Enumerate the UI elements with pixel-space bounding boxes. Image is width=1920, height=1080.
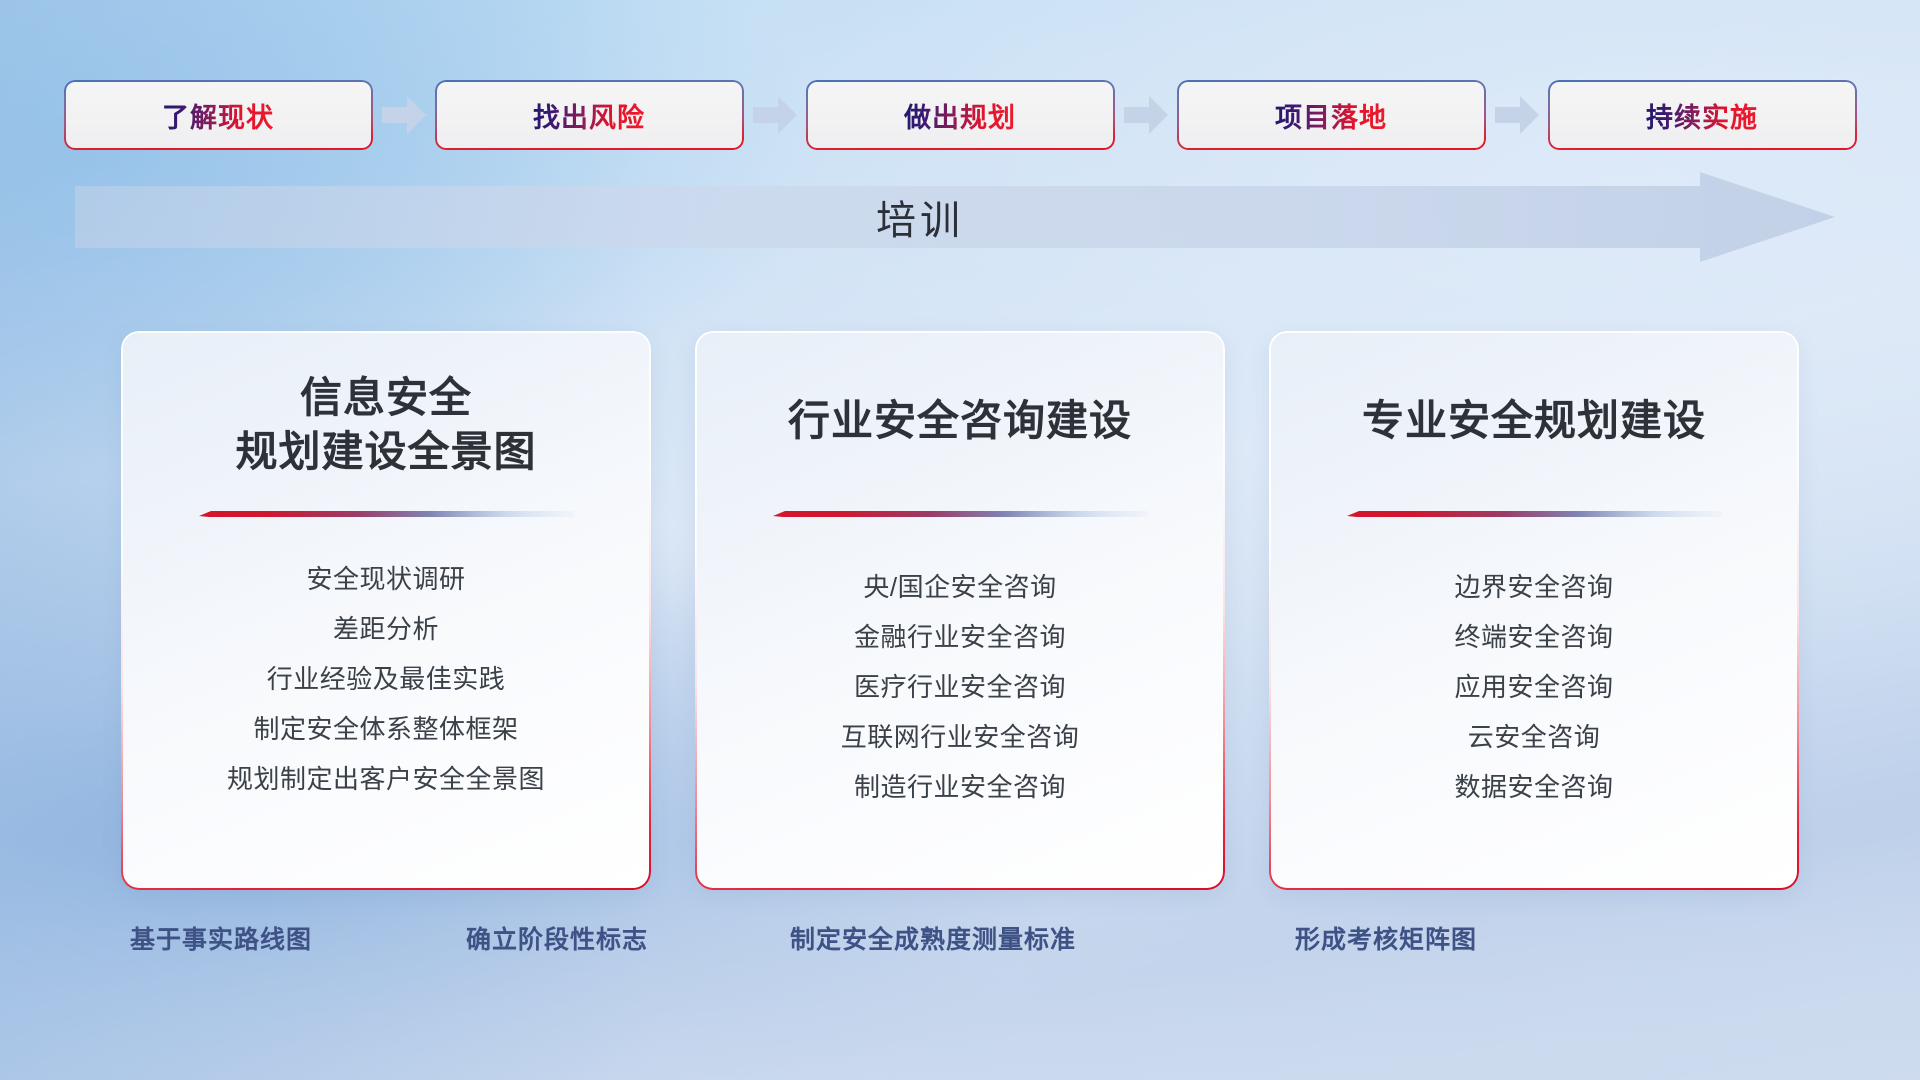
banner-title: 培训 — [75, 172, 1765, 262]
card-item-list: 央/国企安全咨询 金融行业安全咨询 医疗行业安全咨询 互联网行业安全咨询 制造行… — [719, 562, 1201, 812]
gradient-divider-icon — [199, 511, 574, 522]
list-item: 规划制定出客户安全全景图 — [227, 754, 545, 804]
arrow-right-block-icon — [1124, 96, 1168, 134]
list-item: 云安全咨询 — [1468, 712, 1601, 762]
card-title-line: 规划建设全景图 — [235, 425, 536, 479]
caption-phase-milestones: 确立阶段性标志 — [466, 920, 648, 956]
list-item: 数据安全咨询 — [1454, 762, 1613, 812]
caption-assessment-matrix: 形成考核矩阵图 — [1295, 920, 1477, 956]
step-label: 了解现状 — [162, 96, 274, 135]
list-item: 应用安全咨询 — [1454, 662, 1613, 712]
list-item: 制造行业安全咨询 — [854, 762, 1066, 812]
step-box-5[interactable]: 持续实施 — [1550, 82, 1855, 148]
arrow-right-block-icon — [753, 96, 797, 134]
caption-maturity-standard: 制定安全成熟度测量标准 — [790, 920, 1076, 956]
card-industry-security-consulting[interactable]: 行业安全咨询建设 央/国企安全咨询 金融 — [697, 333, 1223, 888]
step-label: 做出规划 — [904, 96, 1016, 135]
list-item: 差距分析 — [333, 604, 439, 654]
card-professional-security-planning[interactable]: 专业安全规划建设 边界安全咨询 终端安全 — [1271, 333, 1797, 888]
card-title: 专业安全规划建设 — [1362, 333, 1706, 508]
training-banner: 培训 — [75, 172, 1835, 262]
list-item: 央/国企安全咨询 — [863, 562, 1056, 612]
step-box-2[interactable]: 找出风险 — [437, 82, 742, 148]
list-item: 安全现状调研 — [306, 554, 465, 604]
list-item: 边界安全咨询 — [1454, 562, 1613, 612]
list-item: 行业经验及最佳实践 — [267, 654, 506, 704]
card-title: 行业安全咨询建设 — [788, 333, 1132, 508]
list-item: 终端安全咨询 — [1454, 612, 1613, 662]
list-item: 金融行业安全咨询 — [854, 612, 1066, 662]
step-box-1[interactable]: 了解现状 — [66, 82, 371, 148]
card-info-security-panorama[interactable]: 信息安全 规划建设全景图 安全现状调 — [123, 333, 649, 888]
step-label: 找出风险 — [533, 96, 645, 135]
step-box-4[interactable]: 项目落地 — [1179, 82, 1484, 148]
caption-row: 基于事实路线图 确立阶段性标志 制定安全成熟度测量标准 形成考核矩阵图 — [0, 920, 1920, 980]
card-title: 信息安全 规划建设全景图 — [235, 333, 536, 508]
list-item: 医疗行业安全咨询 — [854, 662, 1066, 712]
step-box-3[interactable]: 做出规划 — [808, 82, 1113, 148]
list-item: 互联网行业安全咨询 — [841, 712, 1080, 762]
card-row: 信息安全 规划建设全景图 安全现状调 — [0, 333, 1920, 888]
gradient-divider-icon — [1347, 511, 1722, 522]
process-step-row: 了解现状 找出风险 做出规划 项目落地 持续实施 — [0, 80, 1920, 150]
arrow-right-block-icon — [1495, 96, 1539, 134]
gradient-divider-icon — [773, 511, 1148, 522]
caption-fact-roadmap: 基于事实路线图 — [130, 920, 312, 956]
step-label: 持续实施 — [1646, 96, 1758, 135]
card-item-list: 边界安全咨询 终端安全咨询 应用安全咨询 云安全咨询 数据安全咨询 — [1293, 562, 1775, 812]
card-title-line: 信息安全 — [235, 371, 536, 425]
step-label: 项目落地 — [1275, 96, 1387, 135]
arrow-right-block-icon — [382, 96, 426, 134]
list-item: 制定安全体系整体框架 — [253, 704, 518, 754]
card-item-list: 安全现状调研 差距分析 行业经验及最佳实践 制定安全体系整体框架 规划制定出客户… — [145, 554, 627, 804]
card-title-line: 行业安全咨询建设 — [788, 394, 1132, 448]
card-title-line: 专业安全规划建设 — [1362, 394, 1706, 448]
